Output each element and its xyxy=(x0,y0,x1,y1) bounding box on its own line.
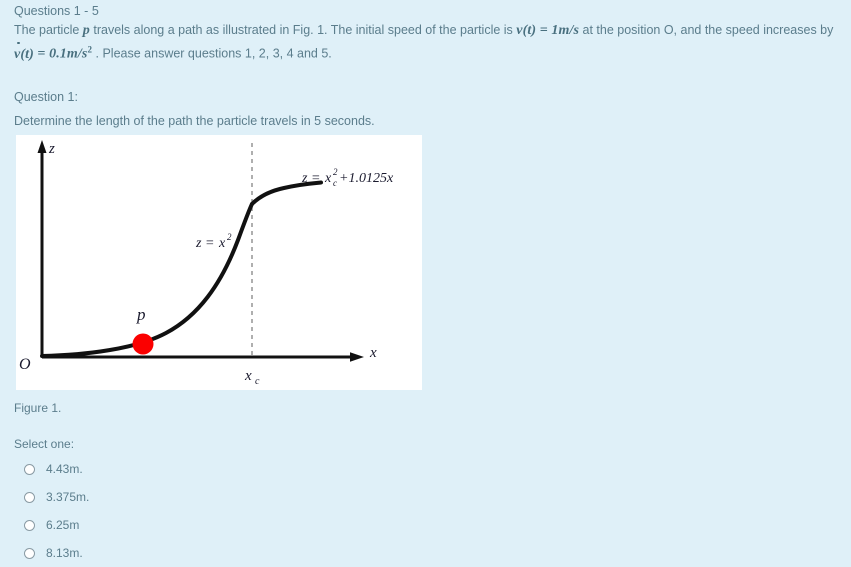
curve-equation-2-x: x xyxy=(324,171,332,186)
radio-button-icon[interactable] xyxy=(24,464,35,475)
math-velocity-derivative: v(t) xyxy=(14,45,34,64)
curve-equation-2-equals: = xyxy=(311,171,320,186)
curve-equation-1-equals: = xyxy=(205,236,214,251)
answer-option-label: 4.43m. xyxy=(46,462,83,476)
math-equals-2: = xyxy=(34,47,49,62)
z-axis-label: z xyxy=(48,141,55,157)
x-axis-label: x xyxy=(369,345,377,361)
math-initial-speed: 1m/s xyxy=(551,23,579,38)
radio-button-icon[interactable] xyxy=(24,520,35,531)
radio-button-icon[interactable] xyxy=(24,548,35,559)
answer-options-list: 4.43m. 3.375m. 6.25m 8.13m. xyxy=(14,455,414,567)
answer-option-1[interactable]: 3.375m. xyxy=(14,483,414,511)
path-curve-parabolic xyxy=(42,204,252,356)
origin-label: O xyxy=(19,356,31,373)
curve-equation-2-rest: +1.0125x xyxy=(339,171,394,186)
answer-option-label: 3.375m. xyxy=(46,490,89,504)
intro-text-4: . Please answer questions 1, 2, 3, 4 and… xyxy=(92,47,332,61)
answer-option-label: 8.13m. xyxy=(46,546,83,560)
xc-subscript: c xyxy=(255,376,260,387)
figure-svg: z x O p x c z = x 2 z = x c 2 +1.0125x xyxy=(16,135,422,390)
intro-text-1: The particle xyxy=(14,23,83,37)
questions-range: Questions 1 - 5 xyxy=(14,2,834,21)
curve-equation-1-z: z xyxy=(195,236,202,251)
intro-paragraph-line1: The particle p travels along a path as i… xyxy=(14,21,834,40)
particle-label-p: p xyxy=(136,305,146,324)
x-axis-arrowhead xyxy=(350,352,364,362)
z-axis-arrowhead xyxy=(38,140,47,153)
intro-text-2: travels along a path as illustrated in F… xyxy=(90,23,516,37)
radio-button-icon[interactable] xyxy=(24,492,35,503)
particle-dot xyxy=(133,334,154,355)
curve-equation-1-exponent: 2 xyxy=(227,232,232,242)
intro-text-3: at the position O, and the speed increas… xyxy=(579,23,833,37)
math-equals-1: = xyxy=(536,23,551,38)
particle-symbol-p: p xyxy=(83,23,90,38)
curve-equation-1-x: x xyxy=(218,236,226,251)
answer-option-0[interactable]: 4.43m. xyxy=(14,455,414,483)
intro-paragraph-line2: v(t) = 0.1m/s2 . Please answer questions… xyxy=(14,40,834,64)
math-acceleration-value: 0.1m/s xyxy=(49,47,87,62)
figure-panel: z x O p x c z = x 2 z = x c 2 +1.0125x xyxy=(16,135,422,390)
answer-option-3[interactable]: 8.13m. xyxy=(14,539,414,567)
question-text: Determine the length of the path the par… xyxy=(14,114,375,128)
curve-equation-2-subscript: c xyxy=(333,178,337,188)
xc-label: x xyxy=(244,368,252,384)
answer-option-label: 6.25m xyxy=(46,518,79,532)
quiz-page: Questions 1 - 5 The particle p travels a… xyxy=(0,0,851,554)
curve-equation-2-z: z xyxy=(301,171,308,186)
figure-caption: Figure 1. xyxy=(14,401,61,415)
curve-equation-2-exponent: 2 xyxy=(333,167,338,177)
question-label: Question 1: xyxy=(14,90,78,104)
intro-block: Questions 1 - 5 The particle p travels a… xyxy=(14,2,834,64)
answer-option-2[interactable]: 6.25m xyxy=(14,511,414,539)
select-one-prompt: Select one: xyxy=(14,437,74,451)
math-velocity-function: v(t) xyxy=(516,23,536,38)
